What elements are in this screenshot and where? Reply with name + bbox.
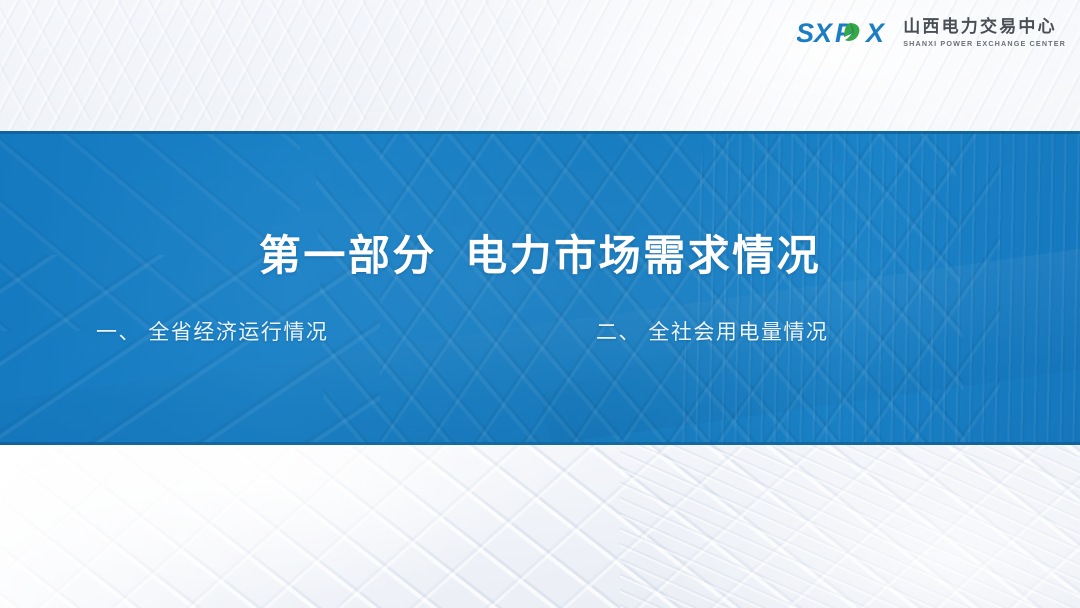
subsection-item-electricity-consumption: 二、 全社会用电量情况 xyxy=(596,316,828,346)
sxpx-logomark-svg: S X P X xyxy=(797,16,893,50)
background-facade-ribs-top-secondary xyxy=(0,0,560,120)
section-banner xyxy=(0,131,1080,445)
brand-name-en: SHANXI POWER EXCHANGE CENTER xyxy=(903,39,1066,48)
banner-bottom-rule xyxy=(0,442,1080,445)
banner-vignette xyxy=(0,131,1080,445)
sxpx-logomark-icon: S X P X xyxy=(797,16,893,50)
banner-top-rule xyxy=(0,131,1080,134)
svg-text:X: X xyxy=(812,18,834,48)
svg-text:X: X xyxy=(864,18,886,48)
subsection-row: 一、 全省经济运行情况 二、 全社会用电量情况 xyxy=(0,316,1080,352)
background-glass-curtain-lower xyxy=(0,445,1080,608)
curtain-sheen xyxy=(0,445,1080,608)
svg-text:S: S xyxy=(797,18,814,48)
brand-name-cn: 山西电力交易中心 xyxy=(903,18,1057,36)
slide-canvas: 第一部分 电力市场需求情况 一、 全省经济运行情况 二、 全社会用电量情况 S … xyxy=(0,0,1080,608)
brand-wordmark: 山西电力交易中心 SHANXI POWER EXCHANGE CENTER xyxy=(903,18,1066,48)
page-title: 第一部分 电力市场需求情况 xyxy=(0,222,1080,283)
subsection-item-economy: 一、 全省经济运行情况 xyxy=(96,316,328,346)
brand-logo: S X P X 山西电力交易中心 SHANXI POWER EXCHANGE C… xyxy=(797,16,1066,50)
